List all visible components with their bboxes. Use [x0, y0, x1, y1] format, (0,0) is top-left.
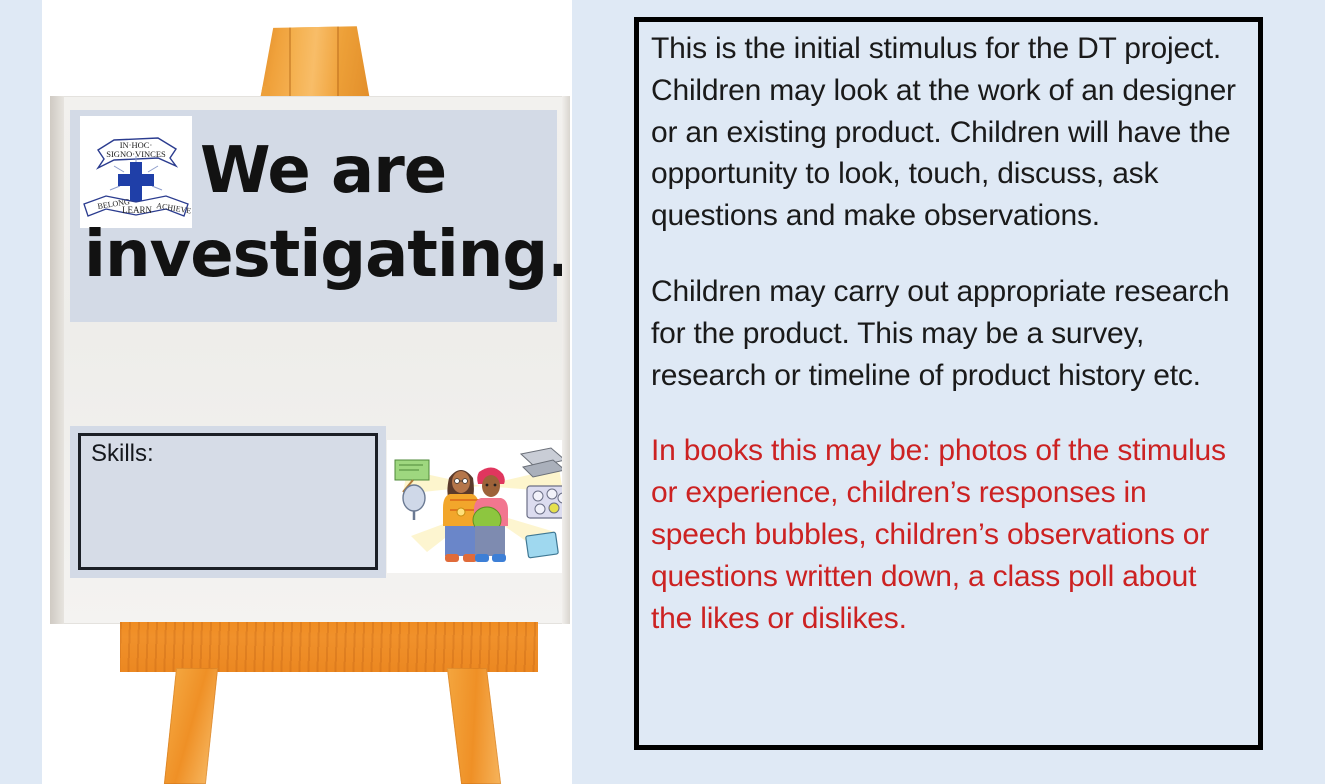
- crest-motto-line2: SIGNO·VINCES: [106, 149, 166, 159]
- easel-leg-left: [164, 668, 218, 784]
- child-right-figure: [473, 467, 508, 562]
- skills-label: Skills:: [91, 440, 154, 468]
- description-text-panel: This is the initial stimulus for the DT …: [634, 17, 1263, 750]
- tablet-icon: [526, 532, 559, 558]
- school-crest-icon: BELONG LEARN ACHIEVE IN·HOC· SIGNO·VINCE…: [80, 116, 192, 228]
- easel-photo-image: BELONG LEARN ACHIEVE IN·HOC· SIGNO·VINCE…: [42, 0, 572, 784]
- easel-canvas-board: BELONG LEARN ACHIEVE IN·HOC· SIGNO·VINCE…: [50, 96, 570, 624]
- sign-title-line-1: We are: [200, 134, 446, 208]
- easel-top-bracket-icon: [260, 18, 370, 100]
- crest-banner-centre-text: LEARN: [122, 205, 152, 215]
- children-investigating-clipart: [387, 440, 572, 573]
- paragraph-in-books: In books this may be: photos of the stim…: [651, 430, 1244, 639]
- paragraph-research: Children may carry out appropriate resea…: [651, 271, 1244, 396]
- easel-leg-right: [447, 668, 501, 784]
- skills-box[interactable]: Skills:: [78, 433, 378, 570]
- tray-icon: [527, 486, 569, 518]
- display-sign: BELONG LEARN ACHIEVE IN·HOC· SIGNO·VINCE…: [70, 110, 557, 322]
- paragraph-stimulus: This is the initial stimulus for the DT …: [651, 28, 1244, 237]
- easel-lower-rail: [120, 622, 538, 672]
- skills-panel: Skills:: [70, 426, 386, 578]
- sign-title-line-2: investigating.: [84, 218, 570, 292]
